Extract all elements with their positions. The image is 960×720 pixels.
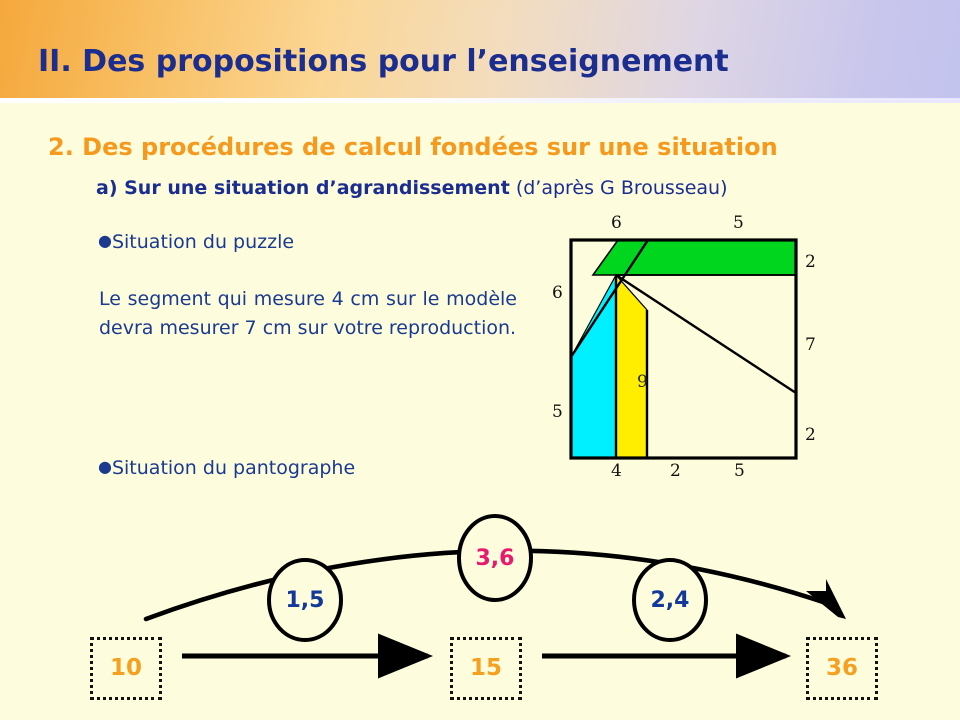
subsection-heading: a) Sur une situation d’agrandissement (d…	[96, 177, 728, 199]
pantograph-figure: 1,5 3,6 2,4 10 15 36	[0, 495, 960, 720]
puzzle-instruction-paragraph: Le segment qui mesure 4 cm sur le modèle…	[99, 285, 517, 343]
header-underline	[0, 98, 960, 103]
section-heading: 2. Des procédures de calcul fondées sur …	[48, 133, 778, 161]
puzzle-label-inner-9: 9	[637, 372, 648, 392]
puzzle-svg	[490, 205, 890, 495]
bullet-situation-puzzle: ●Situation du puzzle	[98, 231, 294, 253]
pantograph-operator-1-label: 1,5	[265, 588, 345, 613]
puzzle-label-right-1: 2	[805, 252, 816, 272]
puzzle-label-bottom-3: 5	[734, 461, 745, 481]
puzzle-label-left-2: 5	[552, 402, 563, 422]
bullet-situation-pantographe: ●Situation du pantographe	[98, 457, 355, 479]
bullet-pantograph-label: Situation du pantographe	[112, 457, 355, 479]
bullet-puzzle-label: Situation du puzzle	[112, 231, 294, 253]
pantograph-node-2-label: 15	[450, 655, 522, 681]
puzzle-figure: 6 5 6 5 2 7 2 4 2 5 9	[490, 205, 890, 495]
puzzle-label-right-3: 2	[805, 425, 816, 445]
subsection-heading-strong: a) Sur une situation d’agrandissement	[96, 177, 510, 199]
pantograph-node-1-label: 10	[90, 655, 162, 681]
puzzle-label-bottom-1: 4	[611, 461, 622, 481]
pantograph-operator-3-label: 3,6	[455, 546, 535, 571]
puzzle-label-left-1: 6	[552, 283, 563, 303]
puzzle-label-bottom-2: 2	[670, 461, 681, 481]
slide-canvas: II. Des propositions pour l’enseignement…	[0, 0, 960, 720]
bullet-dot-icon: ●	[98, 231, 112, 250]
puzzle-piece-green	[593, 240, 796, 275]
page-title: II. Des propositions pour l’enseignement	[38, 44, 729, 79]
pantograph-operator-2-label: 2,4	[630, 588, 710, 613]
bullet-dot-icon: ●	[98, 457, 112, 476]
puzzle-label-top-2: 5	[733, 213, 744, 233]
pantograph-node-3-label: 36	[806, 655, 878, 681]
puzzle-label-top-1: 6	[611, 213, 622, 233]
subsection-heading-source: (d’après G Brousseau)	[510, 177, 728, 199]
puzzle-label-right-2: 7	[805, 335, 816, 355]
